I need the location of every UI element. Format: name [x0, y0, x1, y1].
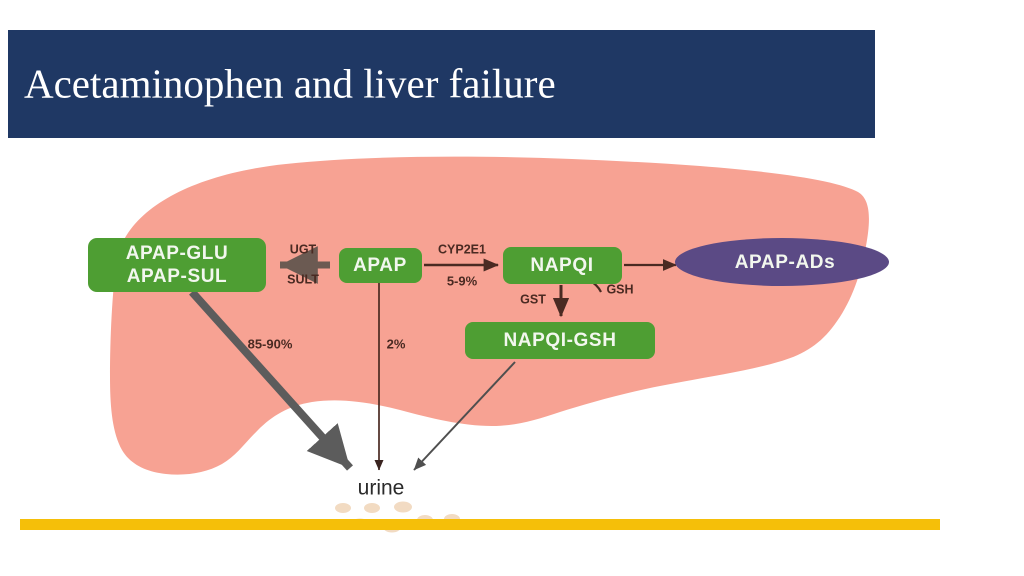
- label-ugt: UGT: [290, 242, 317, 256]
- label-sult: SULT: [287, 272, 319, 286]
- label-gsh: GSH: [606, 282, 633, 296]
- accent-bar: [20, 519, 940, 530]
- node-napqi: NAPQI: [503, 247, 622, 284]
- liver-silhouette: [110, 157, 869, 475]
- node-apap-ads: APAP-ADs: [675, 238, 889, 286]
- node-apap-sul-label: APAP-SUL: [127, 266, 228, 287]
- page-title: Acetaminophen and liver failure: [24, 61, 556, 106]
- slide-canvas: Acetaminophen and liver failure: [0, 0, 1024, 576]
- node-apap-ads-label: APAP-ADs: [735, 252, 836, 273]
- node-napqi-gsh: NAPQI-GSH: [465, 322, 655, 359]
- label-conjugation-pct: 85-90%: [248, 336, 293, 351]
- node-napqi-gsh-label: NAPQI-GSH: [503, 330, 616, 351]
- label-oxidation-pct: 5-9%: [447, 273, 478, 288]
- node-apap: APAP: [339, 248, 422, 283]
- node-apap-glu-label: APAP-GLU: [126, 243, 229, 264]
- node-apap-label: APAP: [353, 255, 407, 276]
- title-banner: Acetaminophen and liver failure: [8, 30, 875, 138]
- node-napqi-label: NAPQI: [530, 255, 593, 276]
- pathway-diagram: UGT SULT CYP2E1 5-9% GST GSH 85-90% 2% A…: [0, 140, 1024, 576]
- label-unchanged-pct: 2%: [387, 336, 406, 351]
- label-gst: GST: [520, 292, 546, 306]
- node-apap-glu-sul: APAP-GLU APAP-SUL: [88, 238, 266, 292]
- urine-label: urine: [358, 477, 405, 500]
- label-cyp2e1: CYP2E1: [438, 242, 486, 256]
